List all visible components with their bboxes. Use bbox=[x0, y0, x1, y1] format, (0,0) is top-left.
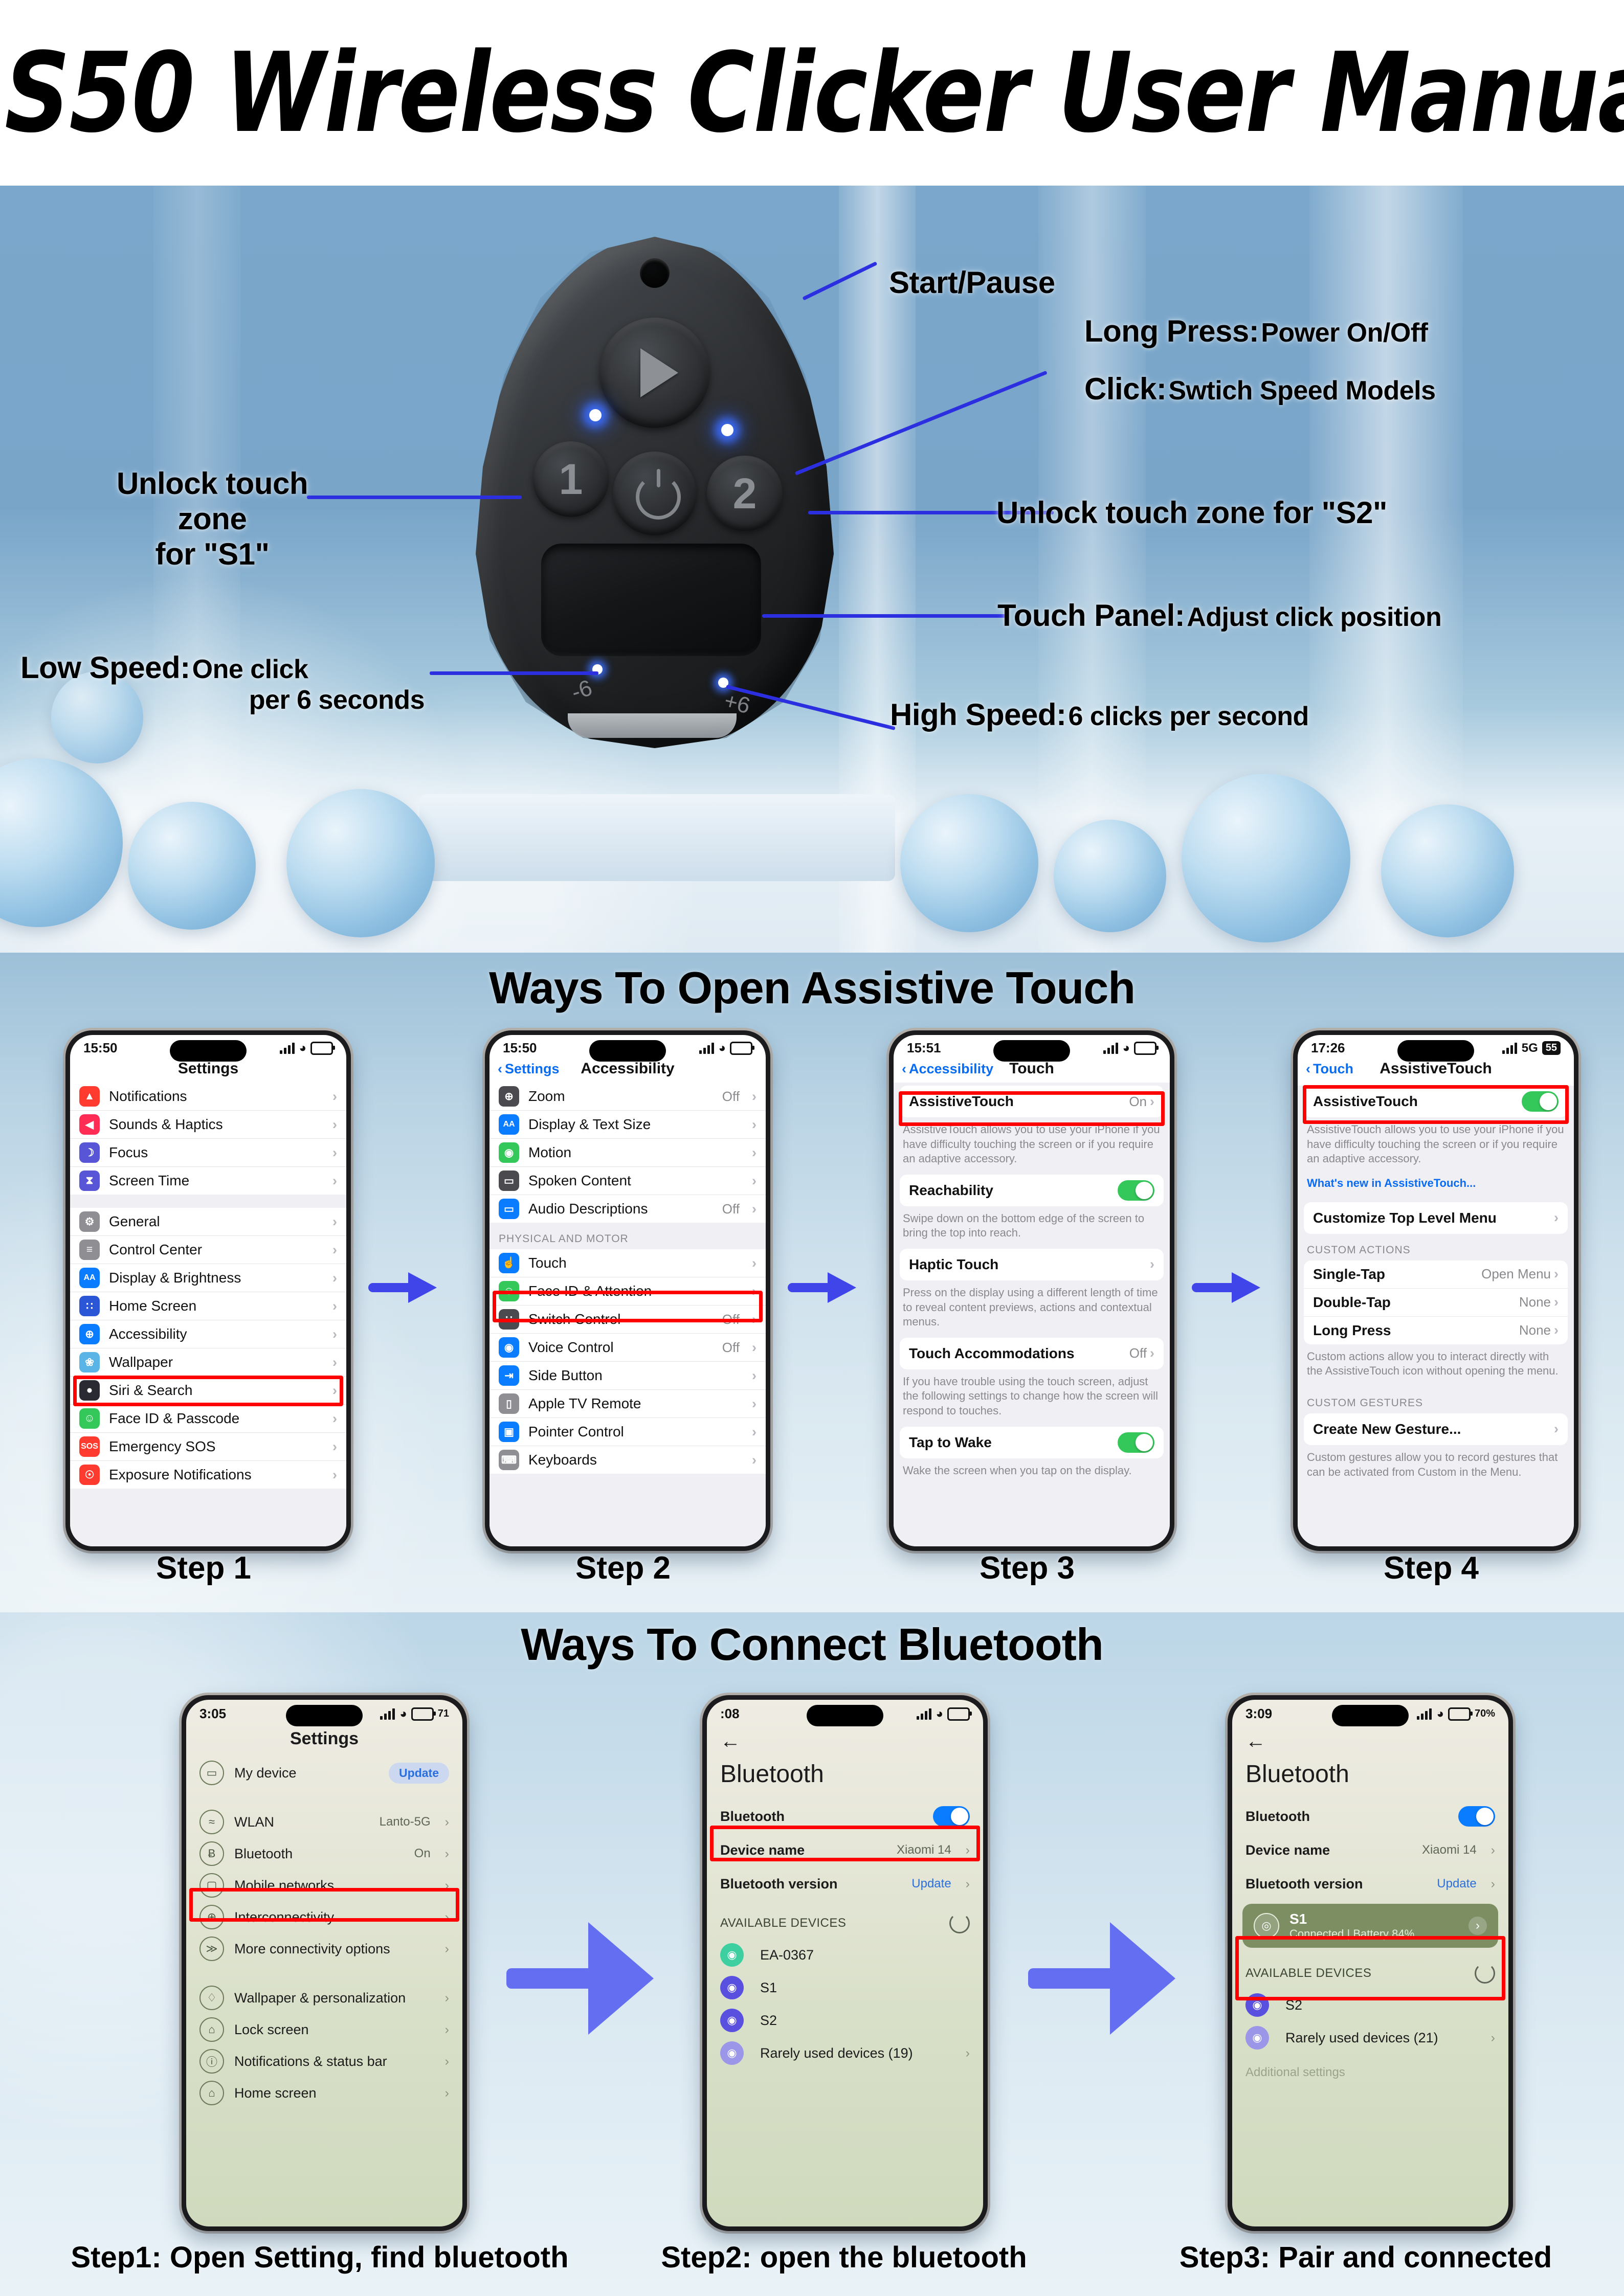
group-separator bbox=[70, 1195, 346, 1208]
setting-card[interactable]: AssistiveTouchOn› bbox=[900, 1086, 1164, 1117]
wallpaper-icon: ♢ bbox=[199, 1986, 224, 2010]
miui-settings-row[interactable]: ⌂Lock screen› bbox=[186, 2014, 462, 2045]
section-header-physical-motor: PHYSICAL AND MOTOR bbox=[490, 1223, 766, 1249]
callout-touch-panel-label: Touch Panel: bbox=[997, 598, 1185, 633]
setting-description: AssistiveTouch allows you to use your iP… bbox=[894, 1117, 1170, 1175]
rarely-used-icon: ◉ bbox=[720, 2041, 744, 2065]
battery-icon bbox=[411, 1707, 434, 1721]
setting-card[interactable]: Reachability bbox=[900, 1175, 1164, 1206]
settings-row-label: Display & Text Size bbox=[528, 1116, 743, 1133]
callout-long-press-label: Long Press: bbox=[1084, 314, 1259, 348]
setting-card[interactable]: Touch AccommodationsOff› bbox=[900, 1338, 1164, 1369]
bluetooth-row-value: Xiaomi 14 bbox=[897, 1843, 951, 1857]
custom-action-value: Open Menu bbox=[1481, 1266, 1551, 1282]
settings-row-value: Off bbox=[722, 1312, 740, 1327]
bell-icon: ▲ bbox=[79, 1086, 100, 1107]
custom-gestures-description: Custom gestures allow you to record gest… bbox=[1298, 1445, 1574, 1488]
chevron-right-icon: › bbox=[332, 1089, 337, 1105]
connected-device-card[interactable]: ◎ S1 Connected | Battery 84% › bbox=[1242, 1904, 1498, 1948]
miui-settings-rows[interactable]: ▭My deviceUpdate≈WLANLanto-5G›ɃBluetooth… bbox=[186, 1757, 462, 2109]
chevron-right-icon: › bbox=[752, 1284, 757, 1299]
chevron-right-icon: › bbox=[332, 1439, 337, 1455]
miui-row-label: Notifications & status bar bbox=[234, 2054, 435, 2069]
available-devices-header-row: AVAILABLE DEVICES bbox=[1232, 1951, 1508, 1989]
touch-settings-list[interactable]: AssistiveTouchOn›AssistiveTouch allows y… bbox=[894, 1083, 1170, 1546]
bluetooth-device-row[interactable]: ◉S2 bbox=[1232, 1989, 1508, 2021]
lanyard-hole bbox=[640, 258, 670, 288]
chevron-right-icon: › bbox=[752, 1452, 757, 1468]
settings-list[interactable]: ▲Notifications›◀Sounds & Haptics›☽Focus›… bbox=[70, 1083, 346, 1546]
device-name: S2 bbox=[1285, 1997, 1495, 2013]
miui-row-label: WLAN bbox=[234, 1814, 369, 1830]
back-label: Settings bbox=[505, 1061, 560, 1077]
phone-bt-step3: 3:09 ◕ 70% ← Bluetooth BluetoothDevice n… bbox=[1228, 1695, 1513, 2231]
callout-touch-panel: Touch Panel: Adjust click position bbox=[997, 598, 1441, 633]
connected-device-status: Connected | Battery 84% bbox=[1289, 1927, 1414, 1940]
accessibility-list[interactable]: ⊕ZoomOff›AADisplay & Text Size›◉Motion›▭… bbox=[490, 1083, 766, 1546]
chevron-right-icon: › bbox=[752, 1117, 757, 1133]
nav-bar: ‹ Settings Accessibility bbox=[490, 1057, 766, 1083]
settings-row[interactable]: SOSEmergency SOS› bbox=[70, 1433, 346, 1461]
callout-unlock-s1-line2: for "S1" bbox=[110, 536, 315, 572]
settings-row-label: Wallpaper bbox=[109, 1354, 323, 1370]
settings-row[interactable]: ◉Voice ControlOff› bbox=[490, 1334, 766, 1362]
battery-percent: 71 bbox=[438, 1708, 449, 1720]
miui-row-label: Interconnectivity bbox=[234, 1909, 435, 1925]
arrow-head bbox=[1232, 1272, 1260, 1303]
settings-row[interactable]: ∷Switch ControlOff› bbox=[490, 1305, 766, 1334]
chevron-right-icon: › bbox=[1554, 1322, 1559, 1338]
nav-title: Settings bbox=[178, 1060, 238, 1077]
chevron-right-icon: › bbox=[752, 1201, 757, 1217]
settings-row[interactable]: ⚙General› bbox=[70, 1208, 346, 1236]
assistivetouch-toggle-card[interactable]: AssistiveTouch bbox=[1304, 1086, 1568, 1117]
phone-step4: 17:26 5G 55 ‹ Touch AssistiveTouch bbox=[1293, 1030, 1578, 1551]
phone-bt-step3-screen: 3:09 ◕ 70% ← Bluetooth BluetoothDevice n… bbox=[1232, 1700, 1508, 2226]
custom-actions-description: Custom actions allow you to interact dir… bbox=[1298, 1344, 1574, 1387]
device-name: Rarely used devices (19) bbox=[760, 2045, 955, 2061]
bt-flow-arrow-2 bbox=[1028, 1919, 1182, 2037]
leader-line-low-speed bbox=[430, 671, 598, 675]
settings-row[interactable]: ❀Wallpaper› bbox=[70, 1348, 346, 1377]
miui-settings-row[interactable]: ▭My deviceUpdate bbox=[186, 1757, 462, 1789]
lock-icon: ⌂ bbox=[199, 2017, 224, 2042]
globe-icon: ⊕ bbox=[199, 1905, 224, 1929]
bluetooth-device-row[interactable]: ◉Rarely used devices (19)› bbox=[707, 2037, 983, 2069]
bluetooth-device-row[interactable]: ◉S2 bbox=[707, 2004, 983, 2037]
decor-sphere bbox=[1182, 774, 1350, 942]
chevron-right-icon: › bbox=[752, 1424, 757, 1440]
callout-start-pause-text: Start/Pause bbox=[889, 265, 1055, 300]
settings-group-1[interactable]: ▲Notifications›◀Sounds & Haptics›☽Focus›… bbox=[70, 1083, 346, 1195]
custom-action-value: None bbox=[1519, 1294, 1551, 1310]
setting-row[interactable]: Touch AccommodationsOff› bbox=[900, 1338, 1164, 1369]
bluetooth-device-row[interactable]: ◉EA-0367 bbox=[707, 1939, 983, 1971]
settings-row[interactable]: ⧗Screen Time› bbox=[70, 1167, 346, 1195]
settings-row-label: Emergency SOS bbox=[109, 1438, 323, 1455]
bluetooth-toggle[interactable] bbox=[933, 1806, 970, 1827]
phone-step4-screen: 17:26 5G 55 ‹ Touch AssistiveTouch bbox=[1298, 1035, 1574, 1546]
back-button[interactable]: ‹ Touch bbox=[1306, 1061, 1353, 1077]
grid-icon: ∷ bbox=[79, 1296, 100, 1316]
bluetooth-setting-rows[interactable]: BluetoothDevice nameXiaomi 14›Bluetooth … bbox=[707, 1799, 983, 1901]
device-name: Rarely used devices (21) bbox=[1285, 2030, 1481, 2046]
miui-settings-row[interactable]: ≫More connectivity options› bbox=[186, 1933, 462, 1965]
settings-row[interactable]: ☺Face ID & Attention› bbox=[490, 1277, 766, 1305]
chevron-right-icon: › bbox=[332, 1117, 337, 1133]
miui-page-title: Settings bbox=[186, 1723, 462, 1757]
settings-row[interactable]: ▲Notifications› bbox=[70, 1083, 346, 1111]
device-name: S1 bbox=[760, 1980, 970, 1996]
siri-icon: ● bbox=[79, 1380, 100, 1401]
available-devices-header: AVAILABLE DEVICES bbox=[720, 1916, 846, 1930]
signal-icon bbox=[1417, 1708, 1432, 1720]
phone-step2: 15:50 ◕ ‹ Settings Accessibility ⊕Zoom bbox=[485, 1030, 770, 1551]
assistivetouch-toggle[interactable] bbox=[1522, 1091, 1559, 1112]
chevron-right-icon: › bbox=[752, 1145, 757, 1161]
back-arrow-icon[interactable]: ← bbox=[707, 1723, 983, 1753]
status-icons: ◕ bbox=[1103, 1041, 1157, 1055]
setting-row[interactable]: Reachability bbox=[900, 1175, 1164, 1206]
accessibility-group-2[interactable]: ☝Touch›☺Face ID & Attention›∷Switch Cont… bbox=[490, 1249, 766, 1474]
settings-row-label: Spoken Content bbox=[528, 1173, 743, 1189]
touch-panel[interactable] bbox=[541, 544, 761, 656]
start-pause-button[interactable] bbox=[599, 318, 710, 428]
dynamic-island bbox=[286, 1705, 363, 1726]
battery-percent: 70% bbox=[1475, 1708, 1495, 1720]
chevron-right-icon: › bbox=[445, 1815, 449, 1830]
create-gesture-label: Create New Gesture... bbox=[1313, 1421, 1554, 1437]
chevron-left-icon: ‹ bbox=[498, 1061, 502, 1077]
settings-row-label: Focus bbox=[109, 1144, 323, 1161]
setting-toggle[interactable] bbox=[1118, 1180, 1154, 1201]
phone-step1-screen: 15:50 ◕ Settings ▲Notifications›◀Sounds … bbox=[70, 1035, 346, 1546]
custom-action-label: Single-Tap bbox=[1313, 1266, 1481, 1282]
callout-touch-panel-value: Adjust click position bbox=[1187, 602, 1441, 632]
bluetooth-device-row[interactable]: ◉S1 bbox=[707, 1971, 983, 2004]
page-title: AS50 Wireless Clicker User Manual bbox=[0, 38, 1624, 148]
settings-row[interactable]: ☝Touch› bbox=[490, 1249, 766, 1277]
settings-row[interactable]: ≡Control Center› bbox=[70, 1236, 346, 1264]
settings-row-label: Zoom bbox=[528, 1088, 713, 1105]
faceid-icon: ☺ bbox=[79, 1408, 100, 1429]
chevron-right-icon: › bbox=[445, 1910, 449, 1925]
bluetooth-setting-row[interactable]: Device nameXiaomi 14› bbox=[707, 1833, 983, 1867]
bluetooth-setting-row[interactable]: Bluetooth versionUpdate› bbox=[1232, 1867, 1508, 1901]
bluetooth-setting-row[interactable]: Bluetooth bbox=[1232, 1799, 1508, 1833]
chevron-right-icon: › bbox=[1150, 1094, 1154, 1110]
assistivetouch-description: AssistiveTouch allows you to use your iP… bbox=[1298, 1117, 1574, 1175]
decor-sphere bbox=[900, 794, 1038, 932]
callout-high-speed-label: High Speed: bbox=[890, 697, 1066, 732]
setting-card[interactable]: Tap to Wake bbox=[900, 1427, 1164, 1458]
accessibility-group-1[interactable]: ⊕ZoomOff›AADisplay & Text Size›◉Motion›▭… bbox=[490, 1083, 766, 1223]
settings-row-label: Control Center bbox=[109, 1242, 323, 1258]
decor-sphere bbox=[0, 758, 123, 927]
signal-icon bbox=[917, 1708, 932, 1720]
chevron-right-icon: › bbox=[332, 1270, 337, 1286]
bt-step-label-2: Step2: open the bluetooth bbox=[614, 2240, 1074, 2275]
settings-row-label: Side Button bbox=[528, 1367, 743, 1384]
step-label-4: Step 4 bbox=[1293, 1550, 1569, 1586]
speech-icon: ▭ bbox=[499, 1170, 519, 1191]
settings-row[interactable]: ▭Audio DescriptionsOff› bbox=[490, 1195, 766, 1223]
settings-row[interactable]: AADisplay & Brightness› bbox=[70, 1264, 346, 1292]
chevron-right-icon: › bbox=[752, 1368, 757, 1384]
dynamic-island bbox=[1332, 1705, 1409, 1726]
customize-menu-card[interactable]: Customize Top Level Menu › bbox=[1304, 1202, 1568, 1234]
available-devices-list[interactable]: ◉S2◉Rarely used devices (21)› bbox=[1232, 1989, 1508, 2054]
miui-settings[interactable]: 3:05 ◕ 71 Settings ▭My deviceUpdate≈WLAN… bbox=[186, 1700, 462, 2226]
signal-icon bbox=[1502, 1043, 1518, 1054]
chevron-right-icon: › bbox=[445, 1847, 449, 1861]
wifi-icon: ◕ bbox=[399, 1707, 407, 1721]
custom-action-row[interactable]: Double-TapNone› bbox=[1304, 1289, 1568, 1317]
status-icons: ◕ bbox=[280, 1041, 333, 1055]
miui-bluetooth[interactable]: :08 ◕ ← Bluetooth BluetoothDevice nameXi… bbox=[707, 1700, 983, 2226]
settings-row-label: Home Screen bbox=[109, 1298, 323, 1314]
settings-row[interactable]: ◀Sounds & Haptics› bbox=[70, 1111, 346, 1139]
miui-row-label: My device bbox=[234, 1765, 379, 1781]
status-icons: ◕ bbox=[917, 1707, 970, 1721]
miui-row-label: Mobile networks bbox=[234, 1878, 435, 1894]
more-connect-icon: ≫ bbox=[199, 1937, 224, 1961]
create-gesture-card[interactable]: Create New Gesture... › bbox=[1304, 1413, 1568, 1445]
settings-row-label: Accessibility bbox=[109, 1326, 323, 1342]
miui-settings-row[interactable]: ɃBluetoothOn› bbox=[186, 1838, 462, 1870]
miui-settings-row[interactable]: ⊕Interconnectivity› bbox=[186, 1901, 462, 1933]
status-time: 17:26 bbox=[1311, 1040, 1345, 1056]
button-two-label: 2 bbox=[733, 469, 757, 519]
manual-title-bar: AS50 Wireless Clicker User Manual bbox=[0, 0, 1624, 186]
customize-menu-row[interactable]: Customize Top Level Menu › bbox=[1304, 1202, 1568, 1234]
decor-sphere bbox=[1054, 820, 1166, 932]
aa-icon: AA bbox=[79, 1268, 100, 1288]
setting-description: If you have trouble using the touch scre… bbox=[894, 1369, 1170, 1427]
chevron-right-icon: › bbox=[445, 2054, 449, 2069]
step-label-1: Step 1 bbox=[65, 1550, 342, 1586]
settings-row[interactable]: ☉Exposure Notifications› bbox=[70, 1461, 346, 1489]
wifi-icon: ◕ bbox=[1123, 1041, 1130, 1055]
miui-row-label: Wallpaper & personalization bbox=[234, 1990, 435, 2006]
chevron-right-icon: › bbox=[966, 2046, 970, 2061]
miui-bluetooth-connected[interactable]: 3:09 ◕ 70% ← Bluetooth BluetoothDevice n… bbox=[1232, 1700, 1508, 2226]
miui-settings-row[interactable]: ⓘNotifications & status bar› bbox=[186, 2045, 462, 2077]
chevron-right-icon: › bbox=[445, 1942, 449, 1956]
chevron-right-icon: › bbox=[332, 1355, 337, 1370]
arrow-head bbox=[1110, 1922, 1175, 2035]
create-gesture-row[interactable]: Create New Gesture... › bbox=[1304, 1413, 1568, 1445]
dynamic-island bbox=[807, 1705, 883, 1726]
device-name: S2 bbox=[760, 2013, 970, 2029]
callout-unlock-s2-text: Unlock touch zone for "S2" bbox=[996, 496, 1387, 530]
callout-high-speed: High Speed: 6 clicks per second bbox=[890, 697, 1309, 732]
custom-actions-card[interactable]: Single-TapOpen Menu›Double-TapNone›Long … bbox=[1304, 1260, 1568, 1344]
assistivetouch-label: AssistiveTouch bbox=[1313, 1093, 1522, 1110]
signal-icon bbox=[1103, 1043, 1119, 1054]
settings-row-label: Face ID & Passcode bbox=[109, 1410, 323, 1427]
step-label-2: Step 2 bbox=[485, 1550, 761, 1586]
settings-row[interactable]: ⊕ZoomOff› bbox=[490, 1083, 766, 1111]
miui-settings-row[interactable]: ▢Mobile networks› bbox=[186, 1870, 462, 1901]
phone-bt-step1: 3:05 ◕ 71 Settings ▭My deviceUpdate≈WLAN… bbox=[182, 1695, 467, 2231]
settings-row-label: Display & Brightness bbox=[109, 1270, 323, 1286]
faceid-icon: ☺ bbox=[499, 1281, 519, 1301]
setting-label: AssistiveTouch bbox=[909, 1093, 1129, 1110]
flower-icon: ❀ bbox=[79, 1352, 100, 1372]
settings-row[interactable]: ●Siri & Search› bbox=[70, 1377, 346, 1405]
settings-row[interactable]: ☽Focus› bbox=[70, 1139, 346, 1167]
zoom-icon: ⊕ bbox=[499, 1086, 519, 1107]
back-arrow-icon[interactable]: ← bbox=[1232, 1723, 1508, 1753]
status-icons: 5G 55 bbox=[1502, 1041, 1561, 1055]
assistivetouch-settings[interactable]: AssistiveTouch AssistiveTouch allows you… bbox=[1298, 1086, 1574, 1546]
status-time: 3:09 bbox=[1245, 1706, 1272, 1722]
aa-icon: AA bbox=[499, 1114, 519, 1135]
bluetooth-toggle[interactable] bbox=[1458, 1806, 1495, 1827]
status-icons: ◕ 71 bbox=[380, 1707, 449, 1721]
bluetooth-setting-row[interactable]: Bluetooth versionUpdate› bbox=[707, 1867, 983, 1901]
button-two[interactable]: 2 bbox=[707, 456, 783, 531]
callout-low-speed: Low Speed: One click per 6 seconds bbox=[20, 650, 425, 716]
decor-sphere bbox=[1381, 804, 1514, 937]
assistivetouch-toggle-row[interactable]: AssistiveTouch bbox=[1304, 1086, 1568, 1117]
settings-row[interactable]: ⊕Accessibility› bbox=[70, 1320, 346, 1348]
miui-row-label: Home screen bbox=[234, 2085, 435, 2101]
settings-row-label: Sounds & Haptics bbox=[109, 1116, 323, 1133]
settings-row-label: Notifications bbox=[109, 1088, 323, 1105]
power-button[interactable] bbox=[613, 452, 697, 535]
row-separator bbox=[186, 1965, 462, 1982]
device-name: EA-0367 bbox=[760, 1947, 970, 1963]
led-indicator-right bbox=[721, 424, 733, 436]
refresh-icon[interactable] bbox=[949, 1913, 970, 1933]
update-badge[interactable]: Update bbox=[389, 1763, 449, 1784]
network-type-label: 5G bbox=[1522, 1041, 1538, 1055]
custom-action-row[interactable]: Single-TapOpen Menu› bbox=[1304, 1260, 1568, 1289]
settings-row-label: Apple TV Remote bbox=[528, 1395, 743, 1412]
custom-action-row[interactable]: Long PressNone› bbox=[1304, 1317, 1568, 1344]
bluetooth-row-value: Update bbox=[911, 1877, 951, 1891]
miui-row-label: More connectivity options bbox=[234, 1941, 435, 1957]
settings-row[interactable]: AADisplay & Text Size› bbox=[490, 1111, 766, 1139]
connected-device-info: S1 Connected | Battery 84% bbox=[1289, 1911, 1458, 1941]
settings-row-label: Switch Control bbox=[528, 1311, 713, 1327]
user-manual-page: AS50 Wireless Clicker User Manual 1 2 bbox=[0, 0, 1624, 2296]
settings-row[interactable]: ∷Home Screen› bbox=[70, 1292, 346, 1320]
miui-row-value: On bbox=[414, 1847, 431, 1861]
settings-row[interactable]: ▯Apple TV Remote› bbox=[490, 1390, 766, 1418]
settings-row[interactable]: ▣Pointer Control› bbox=[490, 1418, 766, 1446]
chevron-right-icon[interactable]: › bbox=[1469, 1917, 1487, 1935]
settings-group-2[interactable]: ⚙General›≡Control Center›AADisplay & Bri… bbox=[70, 1208, 346, 1489]
nav-title: Touch bbox=[1009, 1060, 1054, 1077]
notification-icon: ⓘ bbox=[199, 2049, 224, 2074]
setting-row[interactable]: Haptic Touch› bbox=[900, 1249, 1164, 1280]
back-button[interactable]: ‹ Accessibility bbox=[902, 1061, 993, 1077]
signal-icon bbox=[380, 1708, 395, 1720]
bluetooth-setting-row[interactable]: Device nameXiaomi 14› bbox=[1232, 1833, 1508, 1867]
settings-row-value: Off bbox=[722, 1089, 740, 1105]
phone-step2-screen: 15:50 ◕ ‹ Settings Accessibility ⊕Zoom bbox=[490, 1035, 766, 1546]
settings-row[interactable]: ◉Motion› bbox=[490, 1139, 766, 1167]
phone-step3-screen: 15:51 ◕ ‹ Accessibility Touch AssistiveT… bbox=[894, 1035, 1170, 1546]
chevron-right-icon: › bbox=[752, 1396, 757, 1412]
bluetooth-setting-row[interactable]: Bluetooth bbox=[707, 1799, 983, 1833]
bluetooth-row-label: Device name bbox=[720, 1842, 886, 1858]
available-devices-list[interactable]: ◉EA-0367◉S1◉S2◉Rarely used devices (19)› bbox=[707, 1939, 983, 2069]
available-devices-header: AVAILABLE DEVICES bbox=[1245, 1966, 1371, 1980]
wifi-icon: ◕ bbox=[719, 1041, 726, 1055]
setting-label: Reachability bbox=[909, 1182, 1118, 1199]
setting-row[interactable]: AssistiveTouchOn› bbox=[900, 1086, 1164, 1117]
chevron-right-icon: › bbox=[752, 1255, 757, 1271]
additional-settings-label[interactable]: Additional settings bbox=[1232, 2054, 1508, 2091]
chevron-right-icon: › bbox=[1554, 1421, 1559, 1437]
back-button[interactable]: ‹ Settings bbox=[498, 1061, 560, 1077]
button-one[interactable]: 1 bbox=[533, 441, 609, 517]
gear-icon: ⚙ bbox=[79, 1211, 100, 1232]
audio-desc-icon: ▭ bbox=[499, 1199, 519, 1219]
setting-card[interactable]: Haptic Touch› bbox=[900, 1249, 1164, 1280]
settings-row[interactable]: ⌨Keyboards› bbox=[490, 1446, 766, 1474]
settings-row[interactable]: ⇥Side Button› bbox=[490, 1362, 766, 1390]
nav-bar: Settings bbox=[70, 1057, 346, 1083]
chevron-right-icon: › bbox=[1150, 1256, 1154, 1272]
chevron-right-icon: › bbox=[332, 1173, 337, 1189]
miui-settings-row[interactable]: ⌂Home screen› bbox=[186, 2077, 462, 2109]
callout-start-pause: Start/Pause bbox=[889, 265, 1055, 300]
miui-settings-row[interactable]: ≈WLANLanto-5G› bbox=[186, 1806, 462, 1838]
bluetooth-device-row[interactable]: ◉Rarely used devices (21)› bbox=[1232, 2021, 1508, 2054]
whats-new-link[interactable]: What's new in AssistiveTouch... bbox=[1298, 1175, 1574, 1195]
callout-unlock-s1: Unlock touch zone for "S1" bbox=[110, 466, 315, 572]
bluetooth-row-value: Update bbox=[1437, 1877, 1476, 1891]
setting-label: Haptic Touch bbox=[909, 1256, 1150, 1273]
battery-icon bbox=[1448, 1707, 1471, 1721]
battery-icon bbox=[1134, 1042, 1156, 1055]
bluetooth-row-label: Bluetooth bbox=[1245, 1809, 1448, 1825]
settings-row-label: Siri & Search bbox=[109, 1382, 323, 1399]
chevron-right-icon: › bbox=[966, 1877, 970, 1892]
touch-icon: ☝ bbox=[499, 1253, 519, 1273]
refresh-icon[interactable] bbox=[1475, 1963, 1495, 1984]
status-icons: ◕ bbox=[699, 1041, 753, 1055]
leader-line-touch-panel bbox=[762, 614, 1008, 618]
flow-arrow-2 bbox=[788, 1270, 859, 1305]
setting-toggle[interactable] bbox=[1118, 1432, 1154, 1453]
miui-row-label: Lock screen bbox=[234, 2022, 435, 2038]
bluetooth-row-value: Xiaomi 14 bbox=[1422, 1843, 1477, 1857]
bluetooth-setting-rows[interactable]: BluetoothDevice nameXiaomi 14›Bluetooth … bbox=[1232, 1799, 1508, 1901]
decor-sphere bbox=[128, 802, 256, 930]
setting-row[interactable]: Tap to Wake bbox=[900, 1427, 1164, 1458]
chevron-right-icon: › bbox=[1554, 1210, 1559, 1226]
leader-line-s1 bbox=[307, 496, 522, 499]
callout-high-speed-value: 6 clicks per second bbox=[1068, 702, 1308, 731]
bluetooth-page-title: Bluetooth bbox=[1232, 1753, 1508, 1799]
settings-row-label: Voice Control bbox=[528, 1339, 713, 1356]
miui-row-value: Lanto-5G bbox=[380, 1815, 431, 1829]
callout-low-speed-value1: One click bbox=[192, 655, 308, 684]
home-icon: ⌂ bbox=[199, 2081, 224, 2105]
settings-row[interactable]: ☺Face ID & Passcode› bbox=[70, 1405, 346, 1433]
miui-settings-row[interactable]: ♢Wallpaper & personalization› bbox=[186, 1982, 462, 2014]
chevron-right-icon: › bbox=[1150, 1345, 1154, 1361]
settings-row[interactable]: ▭Spoken Content› bbox=[490, 1167, 766, 1195]
settings-row-label: Exposure Notifications bbox=[109, 1467, 323, 1483]
flow-arrow-1 bbox=[368, 1270, 440, 1305]
